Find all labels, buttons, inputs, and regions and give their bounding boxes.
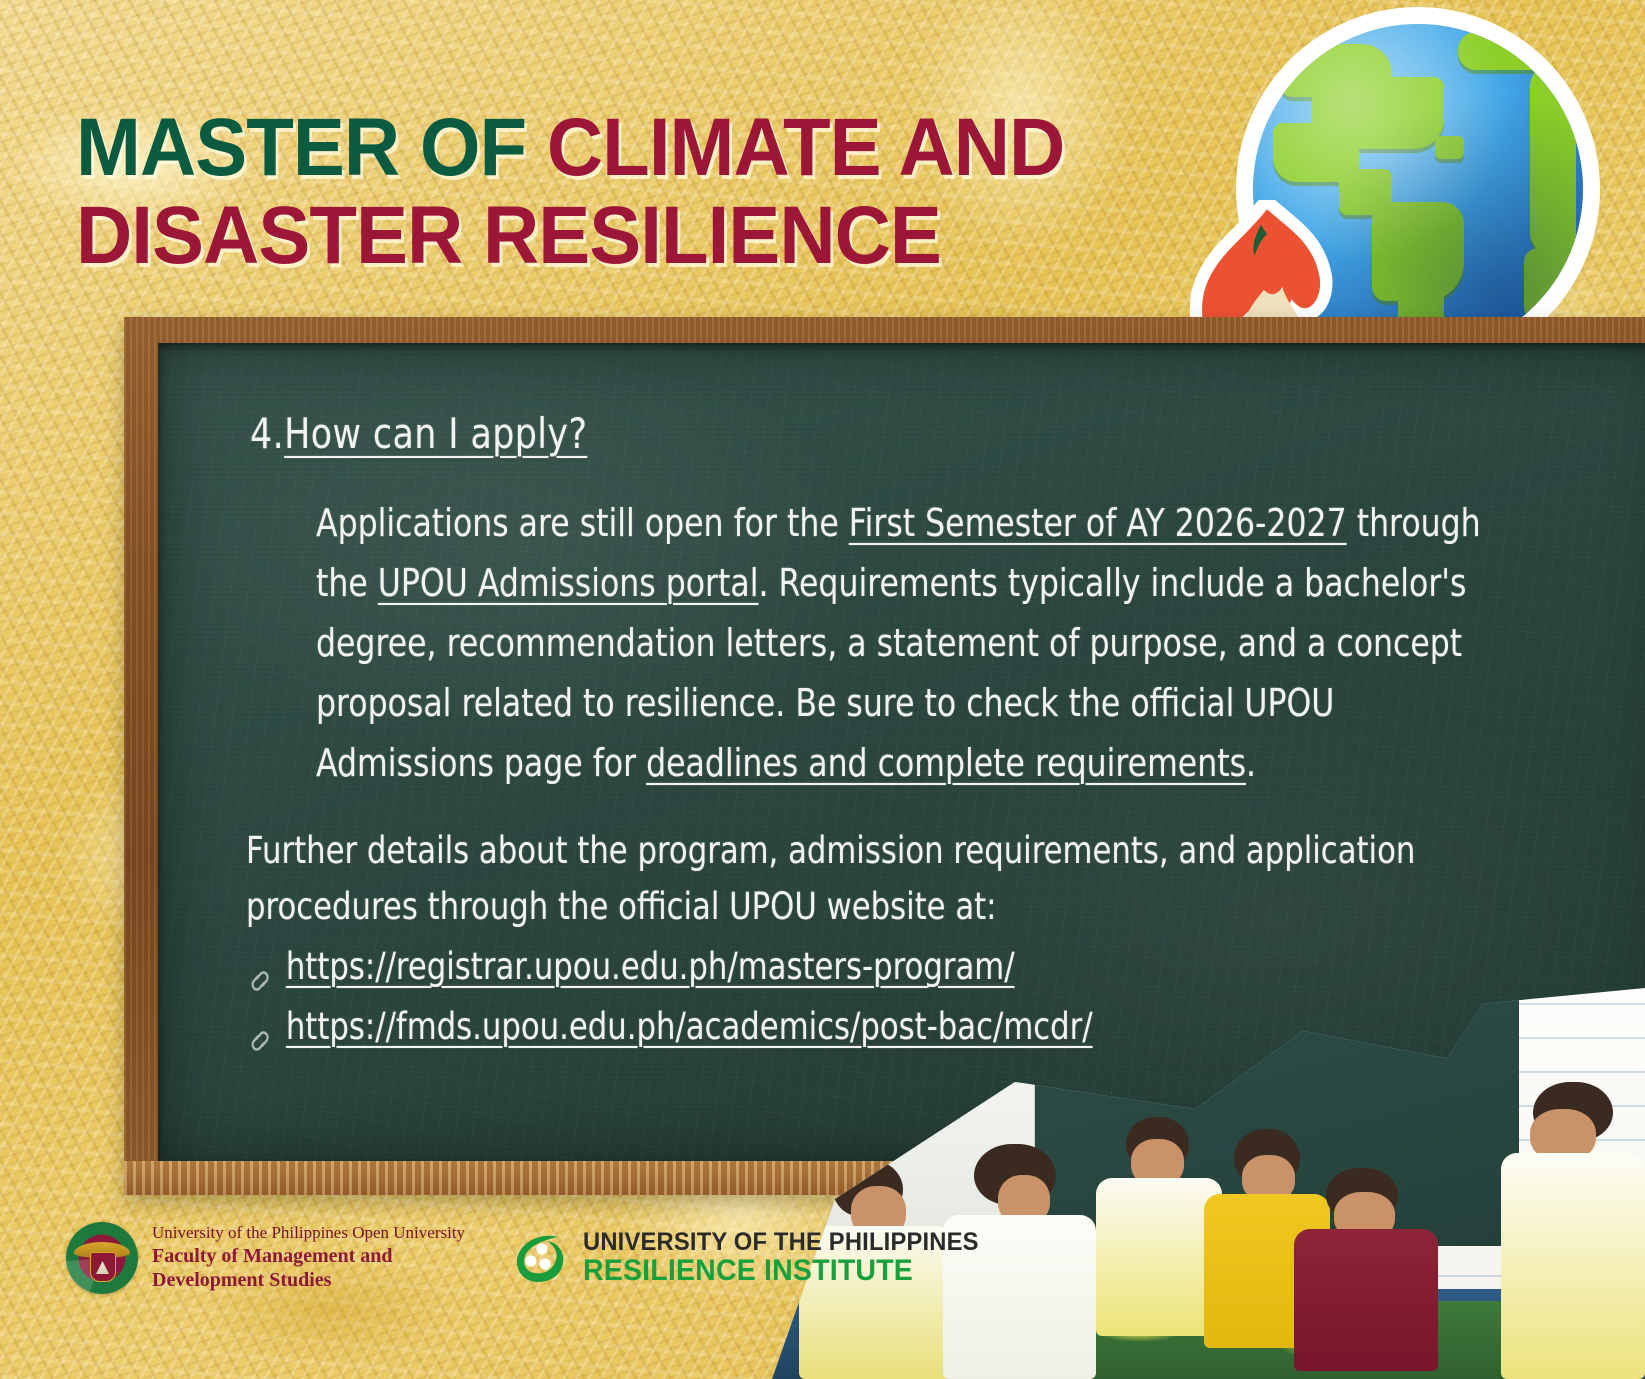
uprima-line-2: RESILIENCE INSTITUTE bbox=[583, 1255, 979, 1287]
link-chain-icon bbox=[246, 954, 274, 980]
up-resilience-institute-text: UNIVERSITY OF THE PHILIPPINES RESILIENCE… bbox=[583, 1229, 1000, 1287]
link-chain-icon bbox=[246, 1014, 274, 1040]
up-resilience-institute-logo-group: UNIVERSITY OF THE PHILIPPINES RESILIENCE… bbox=[511, 1229, 1000, 1287]
further-details-text: Further details about the program, admis… bbox=[246, 823, 1466, 935]
answer-underline-deadlines: deadlines and complete requirements bbox=[646, 741, 1246, 785]
link-url-fmds[interactable]: https://fmds.upou.edu.ph/academics/post-… bbox=[286, 999, 1093, 1055]
fmds-line-1: University of the Philippines Open Unive… bbox=[152, 1223, 465, 1244]
further-details-block: Further details about the program, admis… bbox=[246, 823, 1466, 1055]
answer-underline-portal: UPOU Admissions portal bbox=[378, 561, 759, 605]
chalkboard: 4.How can I apply? Applications are stil… bbox=[158, 343, 1645, 1165]
question-text: How can I apply? bbox=[284, 409, 587, 458]
answer-paragraph: Applications are still open for the Firs… bbox=[316, 493, 1495, 793]
title-line-1: MASTER OF CLIMATE AND bbox=[76, 108, 1197, 188]
title-line-2: DISASTER RESILIENCE bbox=[76, 196, 1197, 276]
up-seal-icon bbox=[66, 1222, 138, 1294]
fmds-logo-group: University of the Philippines Open Unive… bbox=[66, 1222, 465, 1294]
link-row[interactable]: https://registrar.upou.edu.ph/masters-pr… bbox=[246, 939, 1466, 995]
question-heading: 4.How can I apply? bbox=[250, 409, 587, 458]
title-climate-and: CLIMATE AND bbox=[547, 102, 1064, 193]
up-resilience-institute-leaf-icon bbox=[511, 1230, 567, 1286]
uprima-line-1: UNIVERSITY OF THE PHILIPPINES bbox=[583, 1229, 979, 1255]
answer-part-1: Applications are still open for the bbox=[316, 501, 849, 545]
fmds-line-2: Faculty of Management and bbox=[152, 1244, 465, 1268]
title-master-of: MASTER OF bbox=[76, 102, 547, 193]
fmds-logo-text: University of the Philippines Open Unive… bbox=[152, 1223, 465, 1293]
fmds-line-3: Development Studies bbox=[152, 1268, 465, 1292]
question-number: 4. bbox=[250, 409, 284, 458]
footer-logos: University of the Philippines Open Unive… bbox=[66, 1222, 1000, 1294]
link-url-registrar[interactable]: https://registrar.upou.edu.ph/masters-pr… bbox=[286, 939, 1015, 995]
answer-part-4: . bbox=[1246, 741, 1256, 785]
page-title: MASTER OF CLIMATE AND DISASTER RESILIENC… bbox=[76, 108, 1197, 277]
answer-underline-semester: First Semester of AY 2026-2027 bbox=[849, 501, 1347, 545]
